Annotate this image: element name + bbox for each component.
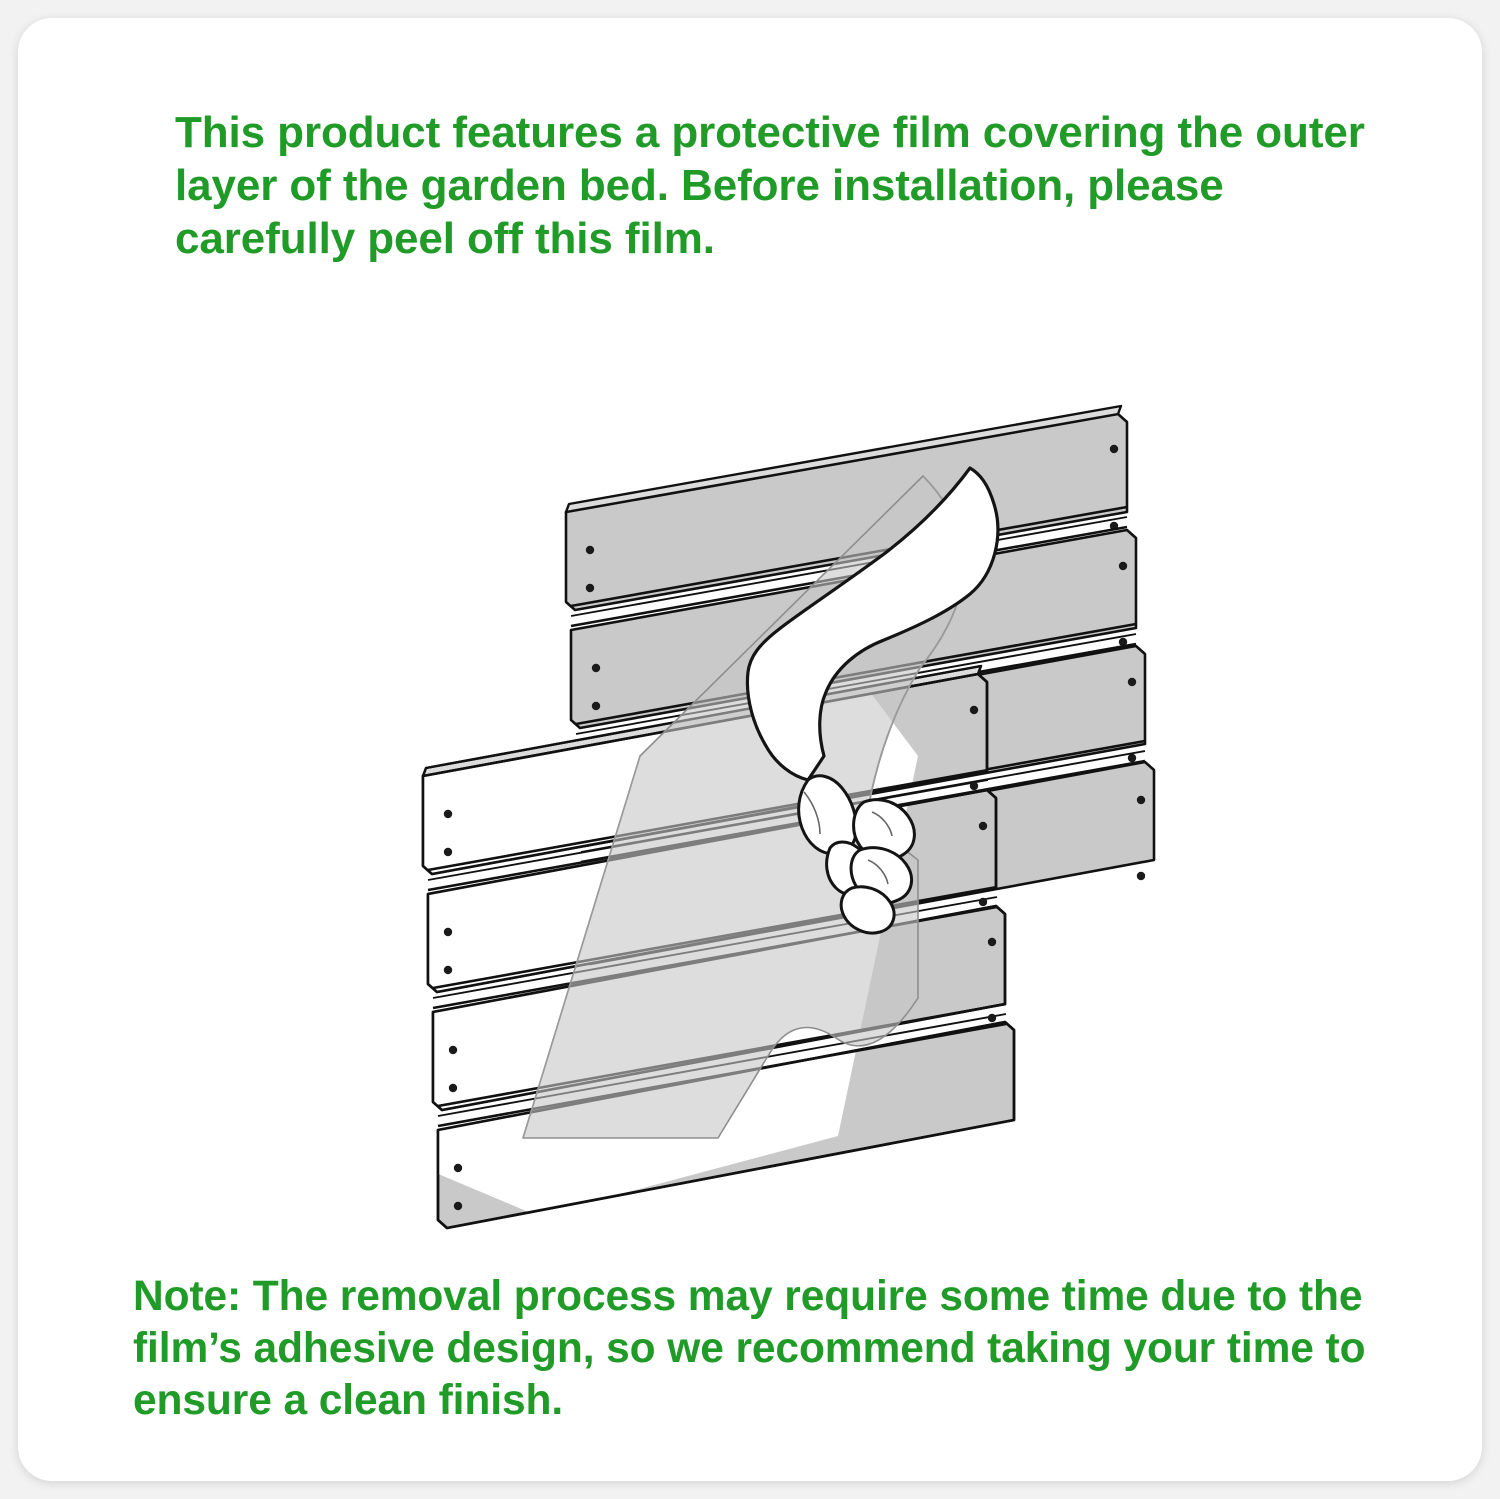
- instruction-card: This product features a protective film …: [18, 18, 1482, 1481]
- garden-bed-panel-film-peel-diagram: [18, 236, 1482, 1256]
- illustration-panel: [18, 236, 1482, 1256]
- bottom-note-text: Note: The removal process may require so…: [133, 1271, 1433, 1427]
